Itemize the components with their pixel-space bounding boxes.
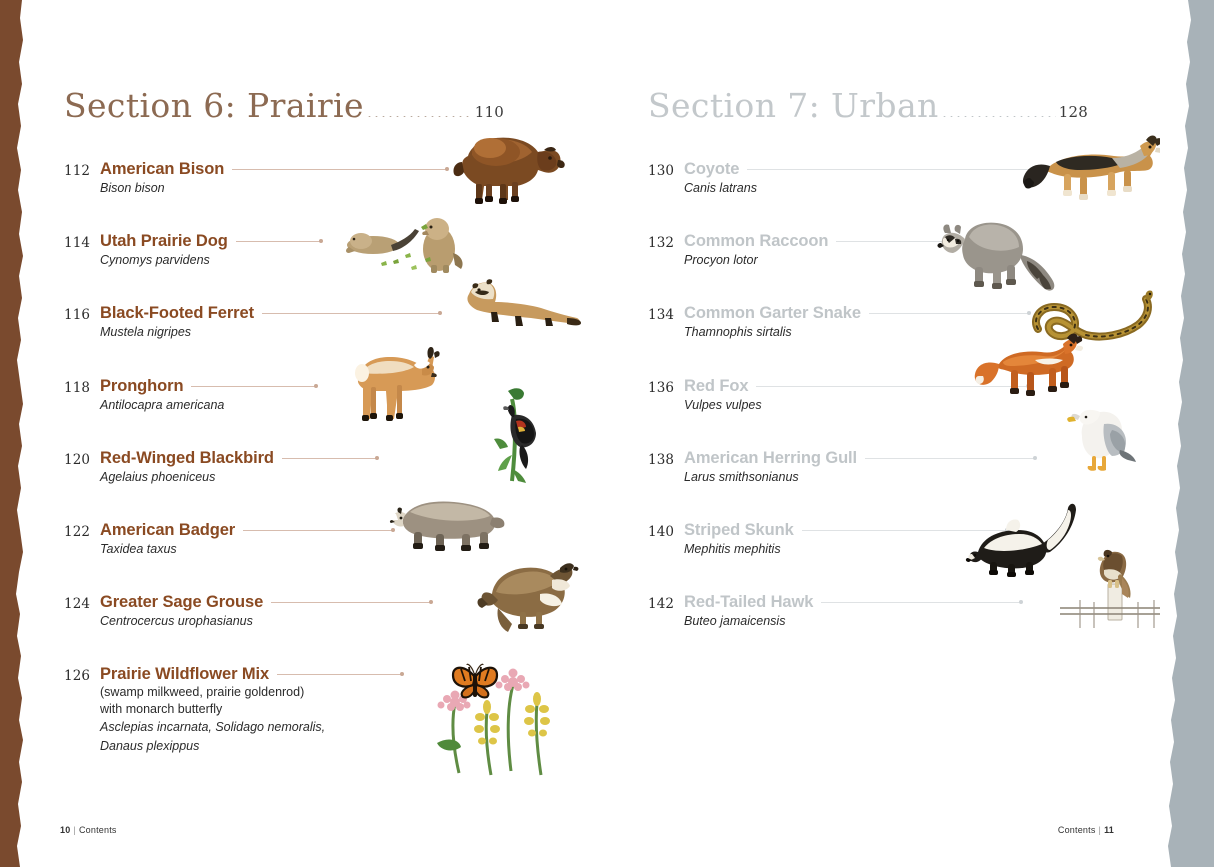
illustration-bison bbox=[438, 126, 568, 208]
entry-scientific-name: Procyon lotor bbox=[684, 252, 1160, 269]
footer-label: Contents bbox=[79, 825, 117, 835]
illustration-black-footed-ferret bbox=[445, 272, 585, 334]
torn-edge-left bbox=[0, 0, 30, 867]
entry-page-number: 130 bbox=[648, 160, 684, 179]
illustration-red-tailed-hawk bbox=[1060, 550, 1160, 632]
entry-leader-rule bbox=[271, 602, 431, 603]
contents-spread: Section 6: Prairie 110 112 American Biso… bbox=[0, 0, 1214, 867]
entry-title: Utah Prairie Dog bbox=[100, 232, 228, 251]
section-page-number: 110 bbox=[475, 103, 504, 121]
footer-separator: | bbox=[1096, 825, 1105, 835]
entry-title: Pronghorn bbox=[100, 377, 183, 396]
entry-leader-rule bbox=[865, 458, 1035, 459]
right-page: Section 7: Urban 128 130 Coyote Canis la… bbox=[620, 0, 1160, 867]
torn-edge-right bbox=[1158, 0, 1214, 867]
entry-leader-rule bbox=[821, 602, 1021, 603]
entry-leader-rule bbox=[232, 169, 447, 170]
entry-page-number: 112 bbox=[64, 160, 100, 179]
illustration-prairie-wildflower-mix bbox=[425, 655, 555, 780]
footer-page-number: 11 bbox=[1104, 825, 1114, 835]
entry-title: Black-Footed Ferret bbox=[100, 304, 254, 323]
entry-title: Common Garter Snake bbox=[684, 304, 861, 323]
entry-leader-rule bbox=[243, 530, 393, 531]
entry-leader-rule bbox=[747, 169, 1037, 170]
entry-page-number: 118 bbox=[64, 377, 100, 396]
illustration-pronghorn bbox=[342, 335, 462, 435]
entry-title: Prairie Wildflower Mix bbox=[100, 665, 269, 684]
section-title: Section 6: Prairie bbox=[64, 86, 364, 125]
entry-leader-rule bbox=[277, 674, 402, 675]
entry-title: American Herring Gull bbox=[684, 449, 857, 468]
entry-page-number: 124 bbox=[64, 593, 100, 612]
illustration-raccoon bbox=[935, 205, 1065, 295]
illustration-greater-sage-grouse bbox=[478, 550, 583, 636]
entry-title: American Bison bbox=[100, 160, 224, 179]
section-heading-left: Section 6: Prairie 110 bbox=[64, 86, 504, 125]
footer-separator: | bbox=[70, 825, 79, 835]
entry-page-number: 120 bbox=[64, 449, 100, 468]
entry-page-number: 114 bbox=[64, 232, 100, 251]
entry-page-number: 134 bbox=[648, 304, 684, 323]
illustration-red-winged-blackbird bbox=[472, 385, 568, 485]
section-page-number: 128 bbox=[1059, 103, 1088, 121]
entry-title-line: Red Fox bbox=[684, 377, 1160, 396]
entry-title-line: Striped Skunk bbox=[684, 521, 1160, 540]
entry-leader-rule bbox=[262, 313, 440, 314]
section-title: Section 7: Urban bbox=[648, 86, 939, 125]
entry-title: Common Raccoon bbox=[684, 232, 828, 251]
entry-title-line: Common Raccoon bbox=[684, 232, 1160, 251]
illustration-coyote bbox=[1020, 132, 1160, 212]
entry-leader-rule bbox=[191, 386, 316, 387]
entry-title: Red Fox bbox=[684, 377, 748, 396]
entry-page-number: 126 bbox=[64, 665, 100, 684]
toc-entry-common-raccoon[interactable]: 132 Common Raccoon Procyon lotor bbox=[648, 232, 1160, 269]
illustration-herring-gull bbox=[1060, 400, 1140, 475]
entry-body: Common Raccoon Procyon lotor bbox=[684, 232, 1160, 269]
section-leader-dots bbox=[366, 116, 472, 117]
entry-title: Red-Winged Blackbird bbox=[100, 449, 274, 468]
entry-title: Striped Skunk bbox=[684, 521, 794, 540]
footer-label: Contents bbox=[1058, 825, 1096, 835]
entry-page-number: 136 bbox=[648, 377, 684, 396]
entry-leader-rule bbox=[869, 313, 1029, 314]
toc-entry-utah-prairie-dog[interactable]: 114 Utah Prairie Dog Cynomys parvidens bbox=[64, 232, 584, 269]
section-leader-dots bbox=[941, 116, 1056, 117]
entry-title: Greater Sage Grouse bbox=[100, 593, 263, 612]
entry-page-number: 140 bbox=[648, 521, 684, 540]
entry-title-line: American Badger bbox=[100, 521, 584, 540]
entry-leader-rule bbox=[282, 458, 377, 459]
section-heading-right: Section 7: Urban 128 bbox=[648, 86, 1088, 125]
illustration-american-badger bbox=[388, 490, 506, 558]
entry-page-number: 116 bbox=[64, 304, 100, 323]
footer-right: Contents|11 bbox=[1058, 825, 1114, 835]
entry-page-number: 132 bbox=[648, 232, 684, 251]
entry-page-number: 138 bbox=[648, 449, 684, 468]
entry-page-number: 122 bbox=[64, 521, 100, 540]
illustration-prairie-dogs bbox=[335, 205, 475, 275]
entry-page-number: 142 bbox=[648, 593, 684, 612]
left-page: Section 6: Prairie 110 112 American Biso… bbox=[20, 0, 620, 867]
entry-title: Coyote bbox=[684, 160, 739, 179]
entry-title: American Badger bbox=[100, 521, 235, 540]
footer-left: 10|Contents bbox=[60, 825, 117, 835]
entry-title: Red-Tailed Hawk bbox=[684, 593, 813, 612]
footer-page-number: 10 bbox=[60, 825, 70, 835]
entry-leader-rule bbox=[236, 241, 321, 242]
